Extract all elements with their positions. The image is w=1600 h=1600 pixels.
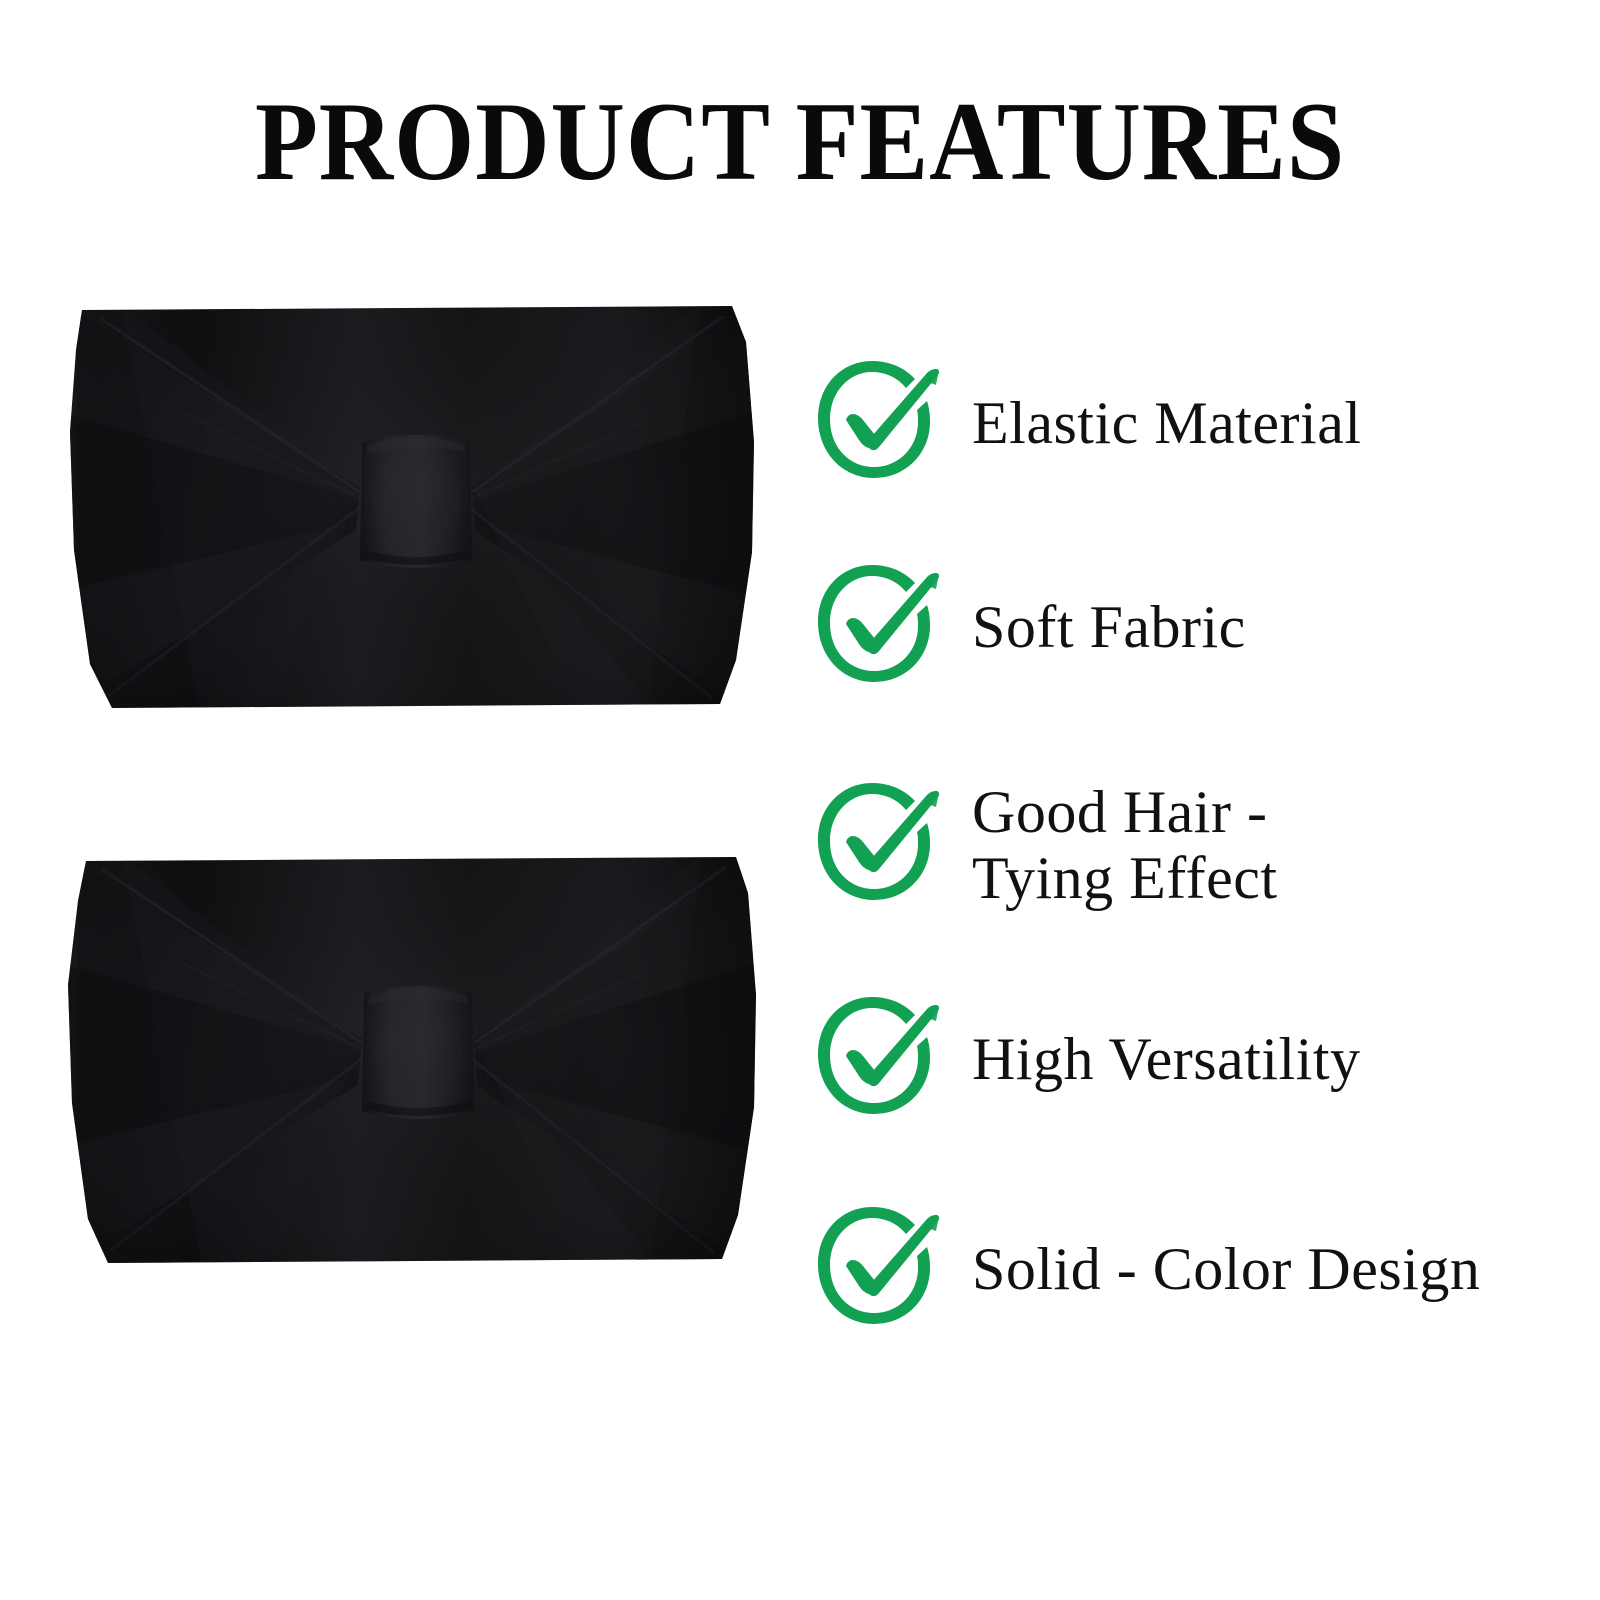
green-check-circle-icon (806, 1194, 956, 1344)
green-check-circle-icon (806, 984, 956, 1134)
feature-item-soft-fabric: Soft Fabric (806, 552, 1246, 702)
feature-item-high-versatility: High Versatility (806, 984, 1361, 1134)
green-check-circle-icon (806, 348, 956, 498)
feature-item-good-hair-tying-effect: Good Hair - Tying Effect (806, 770, 1278, 920)
product-image-headband-top (60, 292, 760, 722)
feature-item-elastic-material: Elastic Material (806, 348, 1362, 498)
feature-label: High Versatility (972, 1026, 1361, 1092)
feature-label: Good Hair - Tying Effect (972, 779, 1278, 911)
green-check-circle-icon (806, 552, 956, 702)
product-features-infographic: PRODUCT FEATURES (0, 0, 1600, 1600)
feature-label: Soft Fabric (972, 594, 1246, 660)
page-title: PRODUCT FEATURES (64, 86, 1536, 198)
product-image-headband-bottom (60, 845, 760, 1275)
feature-label: Elastic Material (972, 390, 1362, 456)
green-check-circle-icon (806, 770, 956, 920)
feature-label: Solid - Color Design (972, 1236, 1480, 1302)
feature-item-solid-color-design: Solid - Color Design (806, 1194, 1480, 1344)
